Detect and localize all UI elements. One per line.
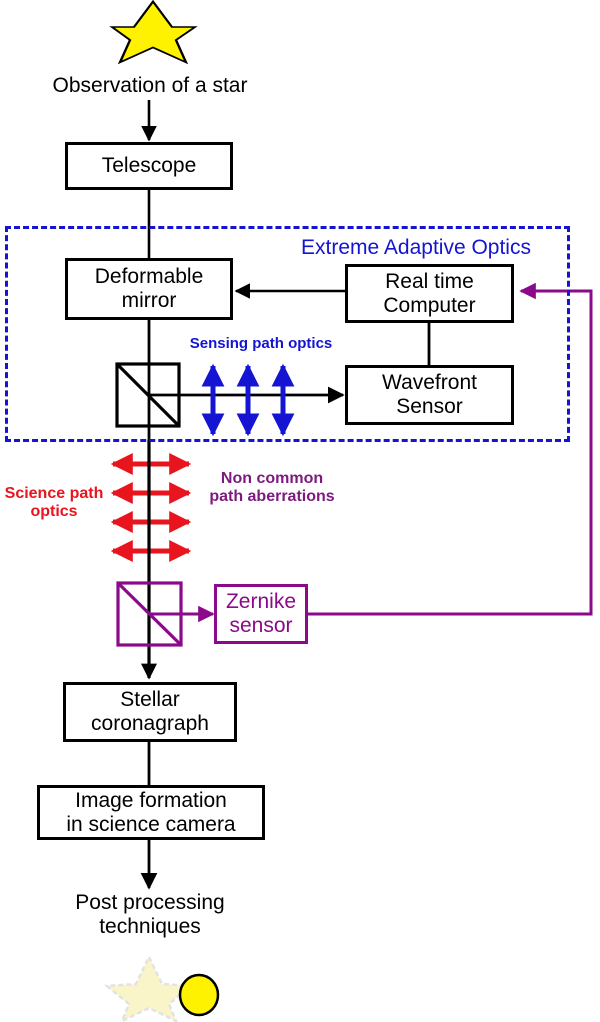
sensing-path-optics-label: Sensing path optics [176,335,346,352]
node-zernike-sensor-line2: sensor [229,614,292,638]
science-path-arrows [113,464,189,551]
node-telescope-label: Telescope [102,154,197,178]
node-stellar-coronagraph-line1: Stellar [120,688,180,712]
non-common-path-line1: Non common [200,470,344,488]
node-image-formation-camera-line1: Image formation [75,789,227,813]
science-path-optics-label: Science path optics [2,485,106,522]
extreme-adaptive-optics-label: Extreme Adaptive Optics [268,236,564,260]
node-image-formation-camera[interactable]: Image formation in science camera [37,785,265,840]
node-deformable-mirror[interactable]: Deformable mirror [65,258,233,320]
post-processing-line1: Post processing [44,891,256,915]
diagram-canvas: Extreme Adaptive Optics Observation of a… [0,0,600,1022]
node-real-time-computer[interactable]: Real time Computer [345,264,514,323]
science-path-optics-line1: Science path [2,485,106,503]
node-wavefront-sensor[interactable]: Wavefront Sensor [345,365,514,425]
node-telescope[interactable]: Telescope [65,142,233,190]
node-deformable-mirror-line2: mirror [122,289,177,313]
node-image-formation-camera-line2: in science camera [66,813,235,837]
science-path-optics-line2: optics [2,503,106,521]
companion-disc-icon [180,975,218,1015]
bright-star-icon [112,2,195,63]
node-zernike-sensor-line1: Zernike [226,590,296,614]
node-real-time-computer-line2: Computer [383,294,475,318]
node-wavefront-sensor-line1: Wavefront [382,371,477,395]
post-processing-label: Post processing techniques [44,891,256,939]
node-zernike-sensor[interactable]: Zernike sensor [214,584,308,644]
observation-label: Observation of a star [24,74,276,98]
faded-star-icon [107,957,191,1021]
node-wavefront-sensor-line2: Sensor [396,395,463,419]
non-common-path-aberrations-label: Non common path aberrations [200,470,344,507]
node-stellar-coronagraph-line2: coronagraph [91,712,209,736]
post-processing-line2: techniques [44,915,256,939]
node-real-time-computer-line1: Real time [385,270,474,294]
non-common-path-line2: path aberrations [200,488,344,506]
node-stellar-coronagraph[interactable]: Stellar coronagraph [63,682,237,742]
node-deformable-mirror-line1: Deformable [95,265,204,289]
